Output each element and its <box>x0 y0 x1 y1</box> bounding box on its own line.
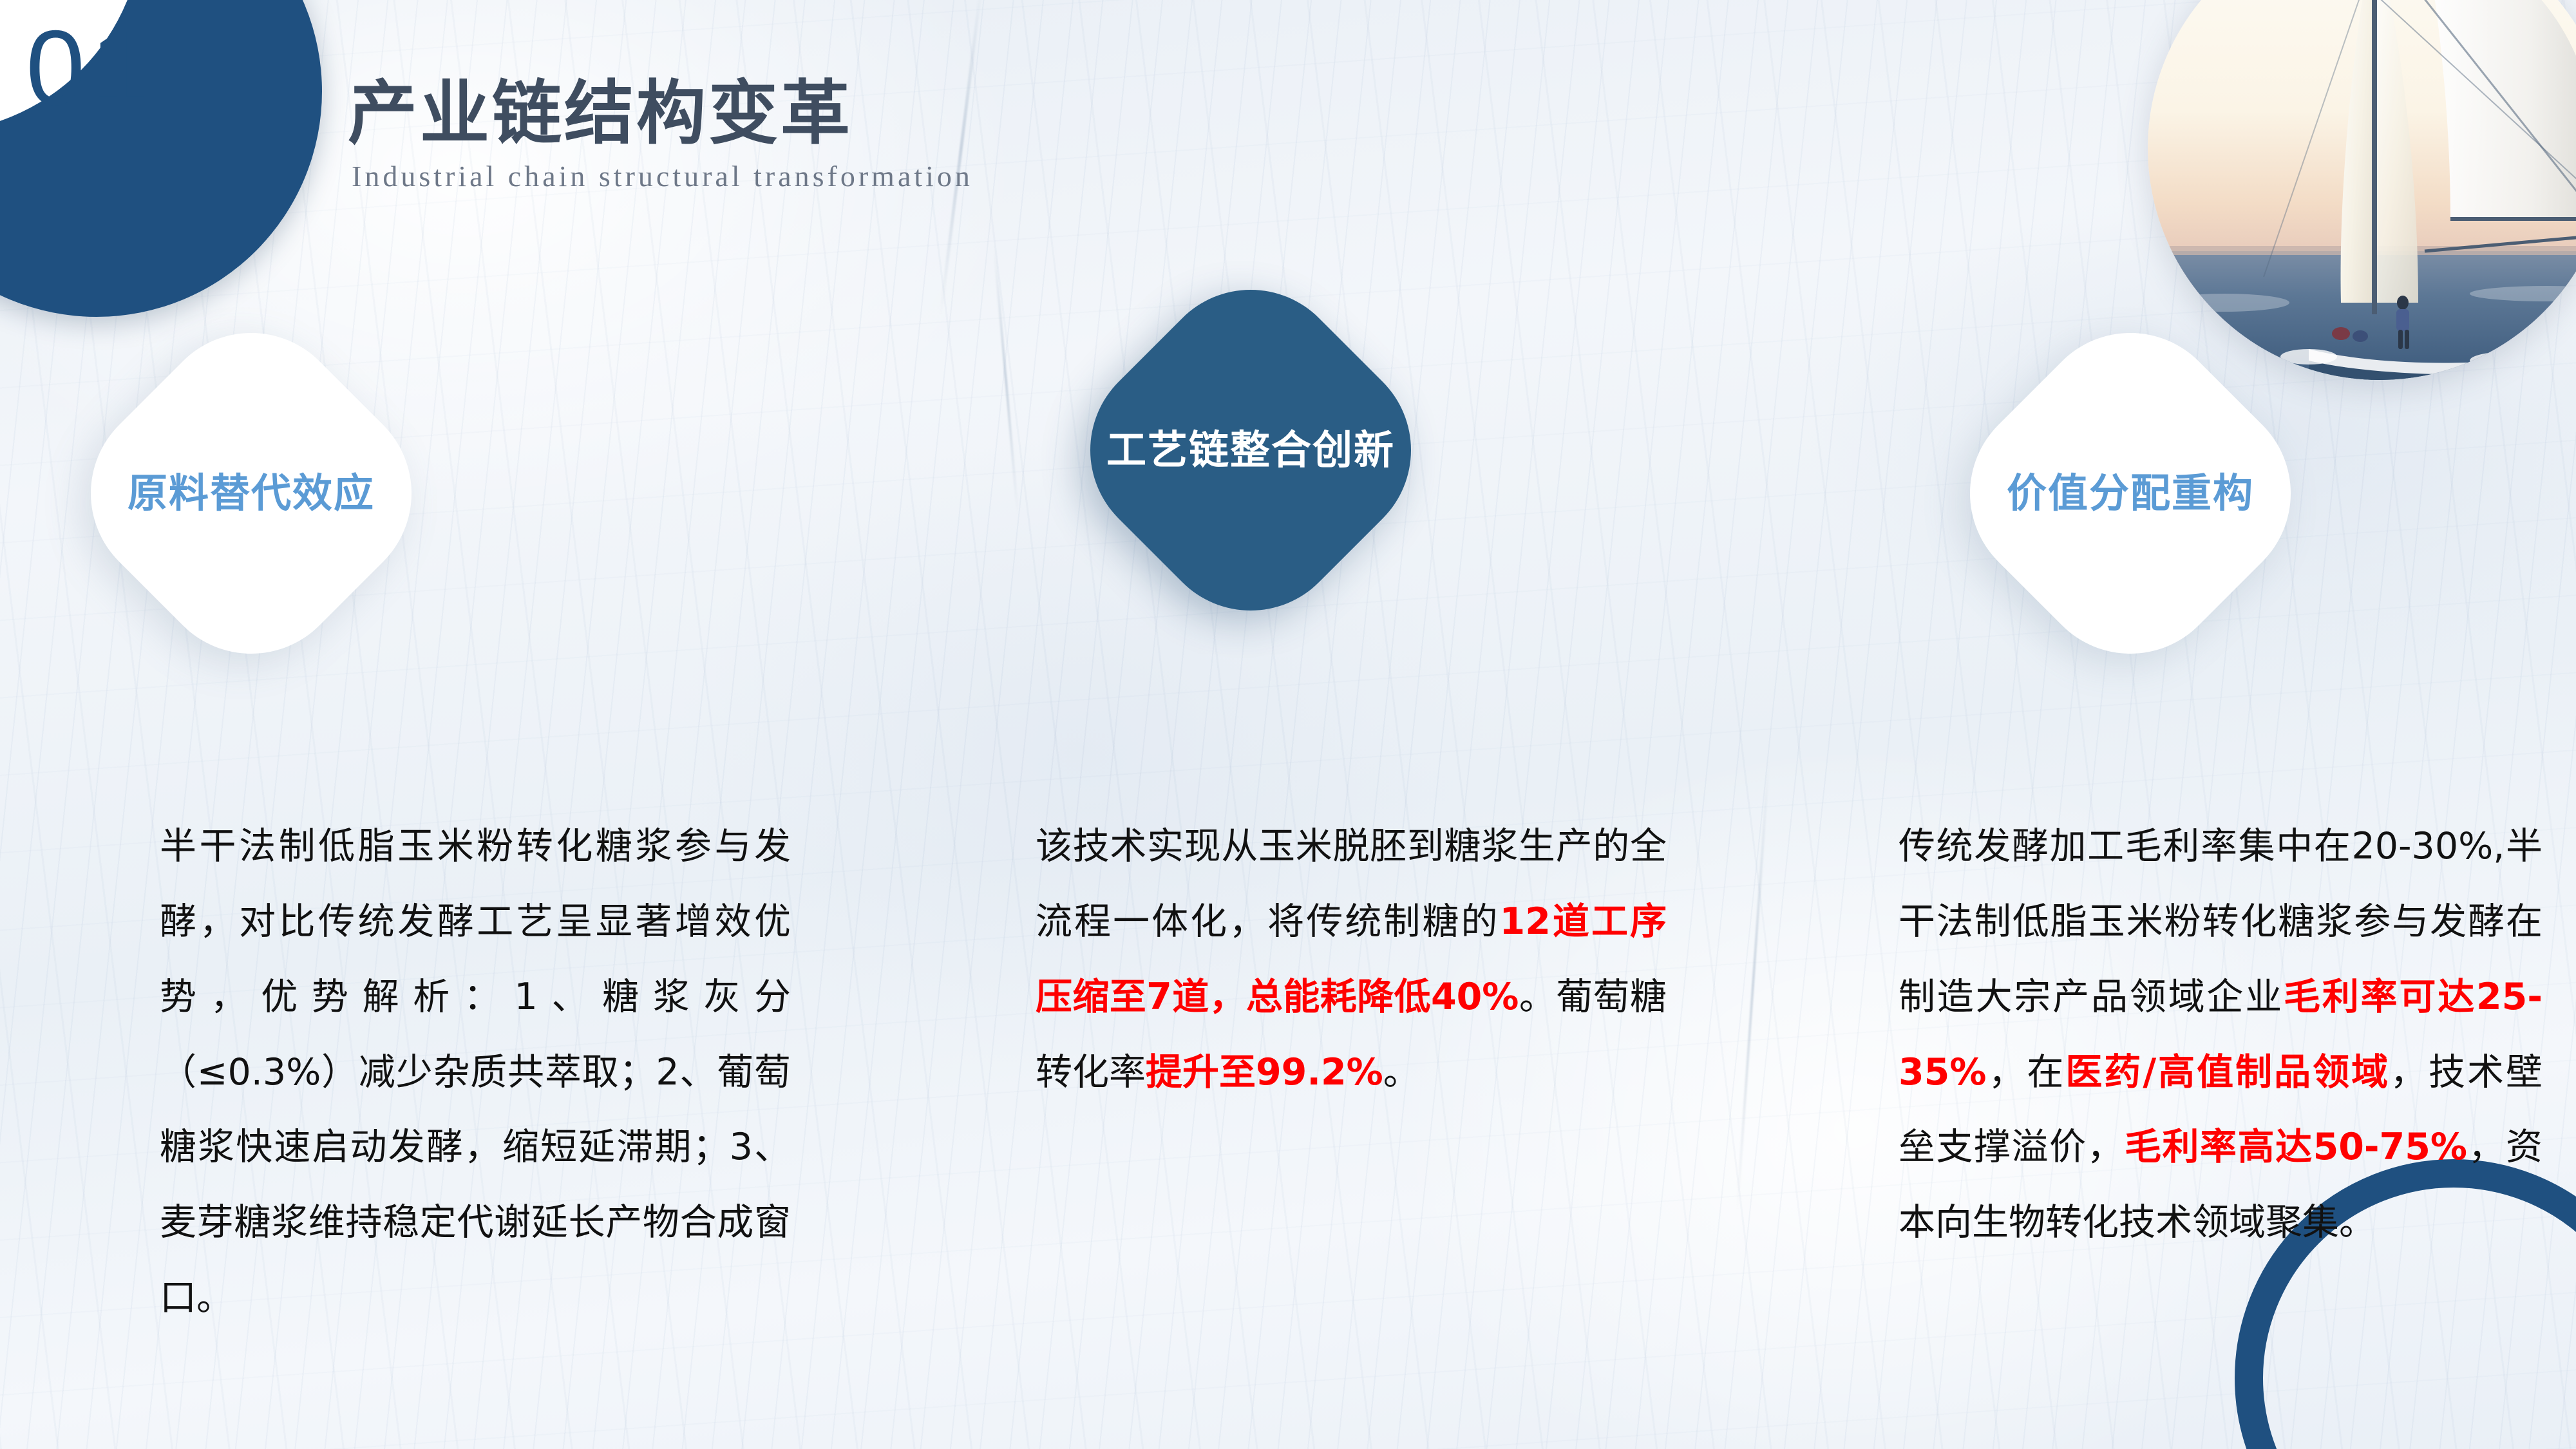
card-label-value-distribution-restructuring: 价值分配重构 <box>2007 473 2254 513</box>
section-number-label: 01 <box>6 6 174 129</box>
card-label-raw-material-substitution: 原料替代效应 <box>128 473 375 513</box>
card-body-raw-material-substitution: 半干法制低脂玉米粉转化糖浆参与发酵，对比传统发酵工艺呈显著增效优势，优势解析：1… <box>160 809 791 1336</box>
card-label-process-chain-integration: 工艺链整合创新 <box>1106 430 1395 470</box>
page-title: 产业链结构变革 <box>348 77 973 150</box>
marble-vein-2 <box>993 245 1019 515</box>
card-diamond-raw-material-substitution[interactable]: 原料替代效应 <box>51 293 451 694</box>
slide-canvas: 01 产业链结构变革 Industrial chain structural t… <box>0 0 2576 1449</box>
card-body-process-chain-integration: 该技术实现从玉米脱胚到糖浆生产的全流程一体化，将传统制糖的12道工序压缩至7道，… <box>1036 809 1667 1110</box>
header: 产业链结构变革 Industrial chain structural tran… <box>348 77 973 193</box>
text-run: ，在 <box>1986 1051 2065 1094</box>
text-run: 。 <box>1383 1051 1420 1094</box>
highlighted-text-run: 医药/高值制品领域 <box>2065 1051 2390 1094</box>
highlighted-text-run: 毛利率高达50-75% <box>2125 1126 2467 1168</box>
marble-vein-3 <box>1736 761 1770 1211</box>
card-body-value-distribution-restructuring: 传统发酵加工毛利率集中在20-30%,半干法制低脂玉米粉转化糖浆参与发酵在制造大… <box>1899 809 2543 1260</box>
page-subtitle: Industrial chain structural transformati… <box>352 159 973 193</box>
text-run: 半干法制低脂玉米粉转化糖浆参与发酵，对比传统发酵工艺呈显著增效优势，优势解析：1… <box>160 825 791 1319</box>
sailboat-photo <box>2148 0 2576 380</box>
highlighted-text-run: 提升至99.2% <box>1146 1051 1383 1094</box>
card-diamond-process-chain-integration[interactable]: 工艺链整合创新 <box>1050 250 1451 650</box>
